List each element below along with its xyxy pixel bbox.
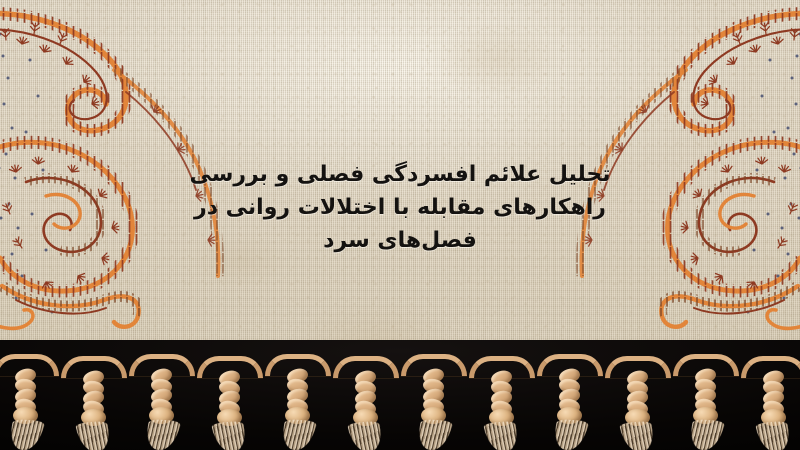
- tassel-threads: [7, 419, 45, 450]
- tassel: [417, 352, 451, 448]
- title-line-3: فصل‌های سرد: [185, 224, 615, 257]
- tassel-threads: [619, 421, 657, 450]
- tassel: [213, 354, 247, 450]
- tassel-threads: [143, 419, 181, 450]
- tassel: [553, 352, 587, 448]
- title-line-1: تحلیل علائم افسردگی فصلی و بررسی: [185, 158, 615, 191]
- tassel-threads: [483, 421, 521, 450]
- tassel: [77, 354, 111, 450]
- tassel-threads: [347, 421, 385, 450]
- tassel: [621, 354, 655, 450]
- tassel: [757, 354, 791, 450]
- tassel: [485, 354, 519, 450]
- tassel-threads: [551, 419, 589, 450]
- tassel-threads: [415, 419, 453, 450]
- tassel-threads: [755, 421, 793, 450]
- tassel-threads: [687, 419, 725, 450]
- tassel-threads: [75, 421, 113, 450]
- tassel: [145, 352, 179, 448]
- slide-title: تحلیل علائم افسردگی فصلی و بررسی راهکاره…: [185, 158, 615, 257]
- tassel: [9, 352, 43, 448]
- tassel-fringe-row: [0, 352, 800, 450]
- tassel-threads: [279, 419, 317, 450]
- slide-canvas: تحلیل علائم افسردگی فصلی و بررسی راهکاره…: [0, 0, 800, 450]
- tassel: [281, 352, 315, 448]
- title-line-2: راهکارهای مقابله با اختلالات روانی در: [185, 191, 615, 224]
- tassel: [349, 354, 383, 450]
- tassel-threads: [211, 421, 249, 450]
- tassel: [689, 352, 723, 448]
